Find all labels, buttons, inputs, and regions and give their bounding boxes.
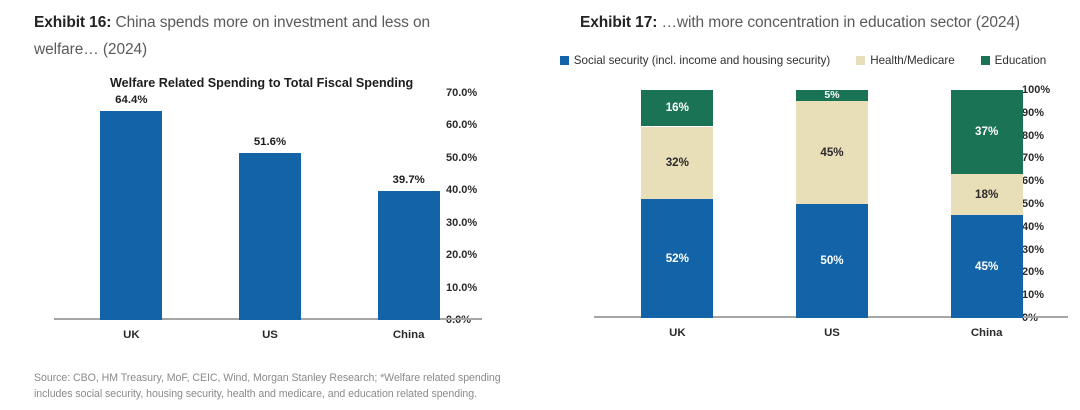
stacked-bar-segment[interactable]: 50% [796, 204, 868, 318]
exhibit-16-panel: Exhibit 16: China spends more on investm… [0, 0, 540, 410]
bar[interactable] [378, 191, 440, 320]
chart-legend: Social security (incl. income and housin… [546, 54, 1080, 67]
legend-item[interactable]: Social security (incl. income and housin… [560, 54, 830, 67]
segment-value-label: 32% [641, 156, 713, 169]
stacked-bar[interactable]: 52%32%16% [641, 90, 713, 318]
x-axis-category-label: US [190, 329, 350, 341]
exhibit-16-label: Exhibit 16: [34, 14, 111, 31]
bar-value-label: 39.7% [329, 174, 489, 186]
stacked-bar-segment[interactable]: 37% [951, 90, 1023, 174]
segment-value-label: 45% [951, 260, 1023, 273]
exhibits-page: Exhibit 16: China spends more on investm… [0, 0, 1080, 410]
x-axis-category-label: US [752, 327, 912, 339]
legend-item[interactable]: Health/Medicare [856, 54, 954, 67]
bar-value-label: 64.4% [51, 94, 211, 106]
bar[interactable] [239, 153, 301, 320]
segment-value-label: 37% [951, 125, 1023, 138]
stacked-bar[interactable]: 50%45%5% [796, 90, 868, 318]
x-axis-category-label: China [907, 327, 1067, 339]
stacked-bar-segment[interactable]: 45% [951, 215, 1023, 318]
x-axis-category-label: UK [51, 329, 211, 341]
segment-value-label: 52% [641, 252, 713, 265]
exhibit-17-title: Exhibit 17: …with more concentration in … [546, 0, 1080, 36]
legend-label: Health/Medicare [870, 54, 954, 67]
legend-swatch-icon [856, 56, 865, 65]
exhibit-17-label: Exhibit 17: [580, 14, 657, 31]
legend-label: Social security (incl. income and housin… [574, 54, 830, 67]
exhibit-17-caption: …with more concentration in education se… [662, 14, 1020, 31]
welfare-spending-bar-chart: Welfare Related Spending to Total Fiscal… [0, 78, 500, 348]
stacked-bar-segment[interactable]: 16% [641, 90, 713, 126]
legend-label: Education [995, 54, 1047, 67]
exhibit-16-source: Source: CBO, HM Treasury, MoF, CEIC, Win… [34, 370, 514, 402]
stacked-bar-segment[interactable]: 5% [796, 90, 868, 101]
plot-area: 64.4%UK51.6%US39.7%China [62, 93, 478, 320]
stacked-bar-segment[interactable]: 18% [951, 174, 1023, 215]
legend-item[interactable]: Education [981, 54, 1047, 67]
stacked-bar-segment[interactable]: 52% [641, 199, 713, 318]
segment-value-label: 45% [796, 146, 868, 159]
bar[interactable] [100, 111, 162, 320]
legend-swatch-icon [560, 56, 569, 65]
legend-swatch-icon [981, 56, 990, 65]
spending-composition-stacked-bar-chart: 100%90%80%70%60%50%40%30%20%10%0% 52%32%… [540, 86, 1074, 348]
plot-area: 52%32%16%UK50%45%5%US45%18%37%China [600, 90, 1064, 318]
stacked-bar-segment[interactable]: 32% [641, 127, 713, 200]
exhibit-17-panel: Exhibit 17: …with more concentration in … [540, 0, 1080, 410]
segment-value-label: 50% [796, 254, 868, 267]
x-axis-category-label: China [329, 329, 489, 341]
segment-value-label: 5% [796, 89, 868, 101]
segment-value-label: 18% [951, 188, 1023, 201]
stacked-bar[interactable]: 45%18%37% [951, 90, 1023, 318]
bar-value-label: 51.6% [190, 136, 350, 148]
stacked-bar-segment[interactable]: 45% [796, 101, 868, 204]
exhibit-16-title: Exhibit 16: China spends more on investm… [34, 0, 494, 63]
segment-value-label: 16% [641, 101, 713, 114]
x-axis-category-label: UK [597, 327, 757, 339]
